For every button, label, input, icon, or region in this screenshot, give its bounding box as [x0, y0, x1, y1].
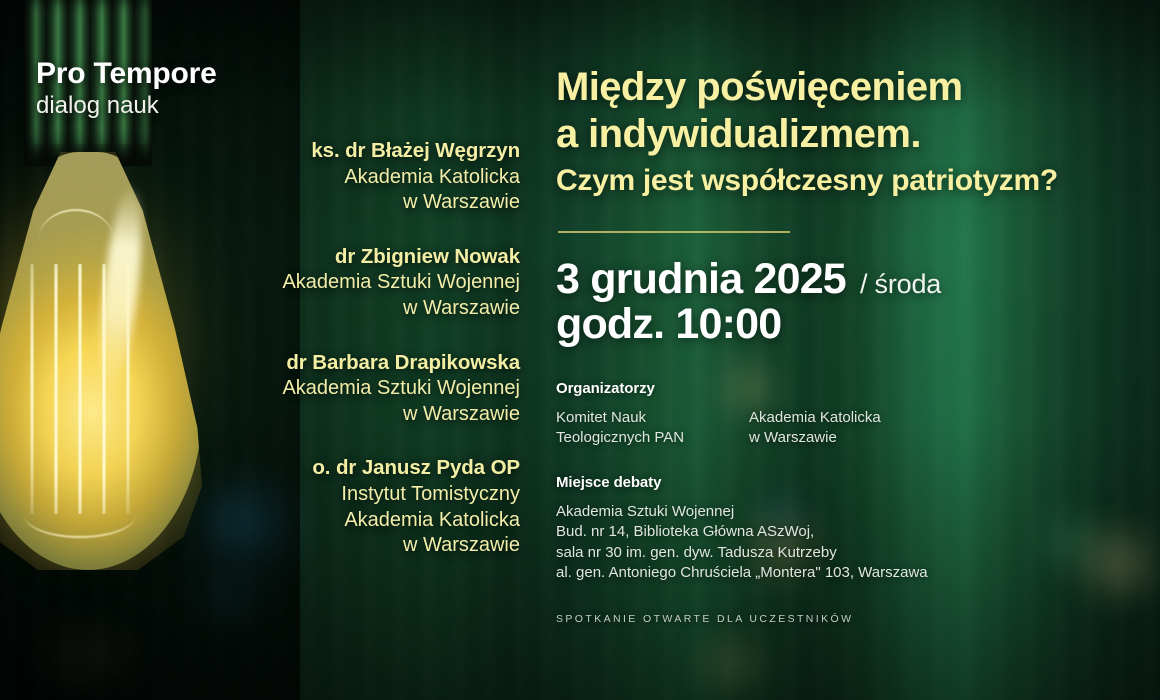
organizer-column: Komitet Nauk Teologicznych PAN	[556, 408, 749, 449]
brand-lockup: Pro Tempore dialog nauk	[36, 58, 217, 119]
headline-line-1: Między poświęceniem	[556, 64, 1156, 111]
speaker-affiliation-line: Akademia Katolicka	[200, 165, 520, 191]
organizer-line: Komitet Nauk	[556, 408, 749, 428]
headline-line-2: a indywidualizmem.	[556, 111, 1156, 158]
venue-line: al. gen. Antoniego Chruściela „Montera" …	[556, 563, 928, 583]
speaker-affiliation-line: w Warszawie	[200, 296, 520, 322]
organizer-line: Teologicznych PAN	[556, 428, 749, 448]
speaker-item: dr Zbigniew Nowak Akademia Sztuki Wojenn…	[200, 244, 520, 322]
organizer-line: Akademia Katolicka	[749, 408, 942, 428]
event-time: godz. 10:00	[556, 301, 1116, 348]
event-headline: Między poświęceniem a indywidualizmem. C…	[556, 64, 1156, 199]
speaker-affiliation-line: w Warszawie	[200, 533, 520, 559]
speakers-list: ks. dr Błażej Węgrzyn Akademia Katolicka…	[200, 138, 520, 559]
speaker-affiliation-line: Akademia Katolicka	[200, 508, 520, 534]
venue-line: Akademia Sztuki Wojennej	[556, 502, 928, 522]
brand-title: Pro Tempore	[36, 58, 217, 90]
speaker-item: o. dr Janusz Pyda OP Instytut Tomistyczn…	[200, 455, 520, 558]
venue-line: Bud. nr 14, Biblioteka Główna ASzWoj,	[556, 522, 928, 542]
venue-line: sala nr 30 im. gen. dyw. Tadusza Kutrzeb…	[556, 543, 928, 563]
right-content-column: Między poświęceniem a indywidualizmem. C…	[556, 0, 1156, 700]
speaker-item: ks. dr Błażej Węgrzyn Akademia Katolicka…	[200, 138, 520, 216]
organizers-row: Komitet Nauk Teologicznych PAN Akademia …	[556, 408, 942, 449]
event-date-row: 3 grudnia 2025 / środa	[556, 257, 1116, 303]
speaker-name: o. dr Janusz Pyda OP	[200, 455, 520, 482]
brand-subtitle: dialog nauk	[36, 93, 217, 119]
speaker-name: ks. dr Błażej Węgrzyn	[200, 138, 520, 165]
organizers-block: Organizatorzy Komitet Nauk Teologicznych…	[556, 380, 942, 449]
speaker-affiliation-line: Akademia Sztuki Wojennej	[200, 270, 520, 296]
speaker-affiliation-line: Akademia Sztuki Wojennej	[200, 376, 520, 402]
event-date: 3 grudnia 2025	[556, 257, 846, 303]
bulb-filament-top	[38, 209, 114, 273]
venue-title: Miejsce debaty	[556, 474, 928, 491]
venue-block: Miejsce debaty Akademia Sztuki Wojennej …	[556, 474, 928, 584]
speaker-name: dr Zbigniew Nowak	[200, 244, 520, 271]
speaker-item: dr Barbara Drapikowska Akademia Sztuki W…	[200, 350, 520, 428]
speaker-affiliation-line: w Warszawie	[200, 402, 520, 428]
poster-canvas: Pro Tempore dialog nauk ks. dr Błażej Wę…	[0, 0, 1160, 700]
speaker-affiliation-line: Instytut Tomistyczny	[200, 482, 520, 508]
organizer-column: Akademia Katolicka w Warszawie	[749, 408, 942, 449]
speaker-affiliation-line: w Warszawie	[200, 190, 520, 216]
bulb-filament-bottom	[24, 492, 136, 538]
event-weekday: / środa	[860, 269, 941, 300]
event-date-block: 3 grudnia 2025 / środa godz. 10:00	[556, 257, 1116, 348]
headline-line-3: Czym jest współczesny patriotyzm?	[556, 162, 1156, 200]
organizer-line: w Warszawie	[749, 428, 942, 448]
speaker-name: dr Barbara Drapikowska	[200, 350, 520, 377]
headline-divider	[558, 231, 790, 233]
organizers-title: Organizatorzy	[556, 380, 942, 397]
open-meeting-note: SPOTKANIE OTWARTE DLA UCZESTNIKÓW	[556, 613, 853, 625]
